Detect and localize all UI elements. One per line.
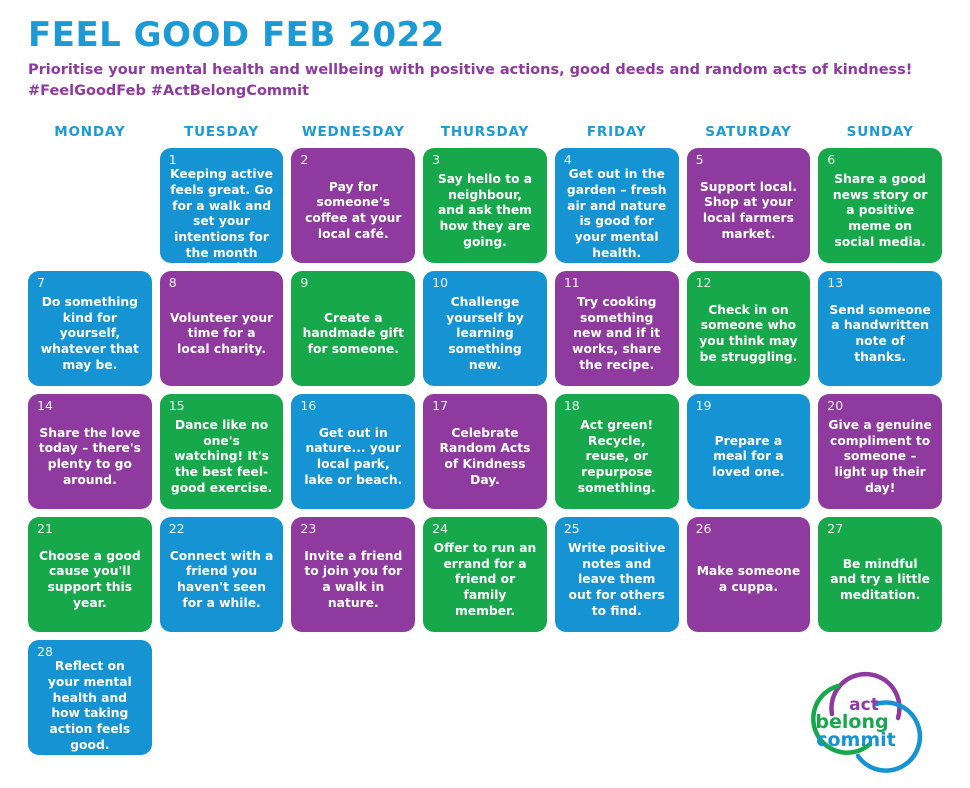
day-number: 17 — [432, 399, 538, 413]
calendar-day-cell-10[interactable]: 10Challenge yourself by learning somethi… — [423, 271, 547, 386]
day-number: 22 — [169, 522, 275, 536]
day-activity-text: Choose a good cause you'll support this … — [37, 536, 143, 623]
calendar-cell-empty — [160, 640, 284, 755]
day-number: 1 — [169, 153, 275, 167]
day-number: 8 — [169, 276, 275, 290]
day-number: 11 — [564, 276, 670, 290]
calendar-day-cell-9[interactable]: 9Create a handmade gift for someone. — [291, 271, 415, 386]
day-activity-text: Try cooking something new and if it work… — [564, 290, 670, 377]
day-number: 20 — [827, 399, 933, 413]
calendar-day-cell-3[interactable]: 3Say hello to a neighbour, and ask them … — [423, 148, 547, 263]
day-activity-text: Volunteer your time for a local charity. — [169, 290, 275, 377]
day-number: 12 — [696, 276, 802, 290]
day-activity-text: Support local. Shop at your local farmer… — [696, 167, 802, 254]
calendar-day-cell-1[interactable]: 1Keeping active feels great. Go for a wa… — [160, 148, 284, 263]
calendar-day-cell-6[interactable]: 6Share a good news story or a positive m… — [818, 148, 942, 263]
weekday-header-saturday: SATURDAY — [687, 124, 811, 140]
day-activity-text: Give a genuine compliment to someone – l… — [827, 413, 933, 500]
weekday-header-monday: MONDAY — [28, 124, 152, 140]
weekday-header-tuesday: TUESDAY — [160, 124, 284, 140]
calendar-day-cell-14[interactable]: 14Share the love today – there's plenty … — [28, 394, 152, 509]
calendar-day-cell-15[interactable]: 15Dance like no one's watching! It's the… — [160, 394, 284, 509]
day-activity-text: Create a handmade gift for someone. — [300, 290, 406, 377]
day-number: 24 — [432, 522, 538, 536]
calendar-day-cell-7[interactable]: 7Do something kind for yourself, whateve… — [28, 271, 152, 386]
calendar-cell-empty — [423, 640, 547, 755]
day-activity-text: Offer to run an errand for a friend or f… — [432, 536, 538, 623]
day-number: 16 — [300, 399, 406, 413]
calendar-day-cell-25[interactable]: 25Write positive notes and leave them ou… — [555, 517, 679, 632]
day-number: 6 — [827, 153, 933, 167]
day-activity-text: Share the love today – there's plenty to… — [37, 413, 143, 500]
act-belong-commit-logo: act belong commit — [794, 660, 934, 780]
day-activity-text: Challenge yourself by learning something… — [432, 290, 538, 377]
day-activity-text: Get out in nature... your local park, la… — [300, 413, 406, 500]
calendar-day-cell-13[interactable]: 13Send someone a handwritten note of tha… — [818, 271, 942, 386]
calendar-week-row: 1Keeping active feels great. Go for a wa… — [28, 148, 942, 263]
weekday-header-sunday: SUNDAY — [818, 124, 942, 140]
day-number: 10 — [432, 276, 538, 290]
day-activity-text: Connect with a friend you haven't seen f… — [169, 536, 275, 623]
calendar-day-cell-21[interactable]: 21Choose a good cause you'll support thi… — [28, 517, 152, 632]
calendar-day-cell-20[interactable]: 20Give a genuine compliment to someone –… — [818, 394, 942, 509]
day-number: 15 — [169, 399, 275, 413]
calendar-day-cell-18[interactable]: 18Act green! Recycle, reuse, or repurpos… — [555, 394, 679, 509]
day-number: 19 — [696, 399, 802, 413]
day-number: 18 — [564, 399, 670, 413]
day-number: 4 — [564, 153, 670, 167]
day-number: 14 — [37, 399, 143, 413]
day-number: 25 — [564, 522, 670, 536]
page-title: FEEL GOOD FEB 2022 — [28, 18, 970, 54]
calendar-day-cell-16[interactable]: 16Get out in nature... your local park, … — [291, 394, 415, 509]
day-activity-text: Celebrate Random Acts of Kindness Day. — [432, 413, 538, 500]
calendar-day-cell-19[interactable]: 19Prepare a meal for a loved one. — [687, 394, 811, 509]
calendar-day-cell-28[interactable]: 28Reflect on your mental health and how … — [28, 640, 152, 755]
day-number: 21 — [37, 522, 143, 536]
calendar-day-cell-8[interactable]: 8Volunteer your time for a local charity… — [160, 271, 284, 386]
day-activity-text: Invite a friend to join you for a walk i… — [300, 536, 406, 623]
day-number: 27 — [827, 522, 933, 536]
page-subtitle: Prioritise your mental health and wellbe… — [28, 60, 970, 102]
page-header: FEEL GOOD FEB 2022 Prioritise your menta… — [0, 0, 970, 102]
calendar-day-cell-4[interactable]: 4Get out in the garden – fresh air and n… — [555, 148, 679, 263]
weekday-header-thursday: THURSDAY — [423, 124, 547, 140]
day-number: 9 — [300, 276, 406, 290]
day-number: 28 — [37, 645, 143, 659]
calendar-day-cell-26[interactable]: 26Make someone a cuppa. — [687, 517, 811, 632]
day-number: 7 — [37, 276, 143, 290]
day-activity-text: Check in on someone who you think may be… — [696, 290, 802, 377]
weekday-header-wednesday: WEDNESDAY — [291, 124, 415, 140]
day-activity-text: Reflect on your mental health and how ta… — [37, 659, 143, 753]
calendar-day-cell-2[interactable]: 2Pay for someone's coffee at your local … — [291, 148, 415, 263]
calendar-day-cell-17[interactable]: 17Celebrate Random Acts of Kindness Day. — [423, 394, 547, 509]
subtitle-line-2: #FeelGoodFeb #ActBelongCommit — [28, 81, 970, 102]
calendar-cell-empty — [28, 148, 152, 263]
day-activity-text: Make someone a cuppa. — [696, 536, 802, 623]
day-number: 5 — [696, 153, 802, 167]
weekday-header-friday: FRIDAY — [555, 124, 679, 140]
day-activity-text: Prepare a meal for a loved one. — [696, 413, 802, 500]
day-activity-text: Send someone a handwritten note of thank… — [827, 290, 933, 377]
calendar-cell-empty — [555, 640, 679, 755]
calendar-day-cell-5[interactable]: 5Support local. Shop at your local farme… — [687, 148, 811, 263]
day-activity-text: Pay for someone's coffee at your local c… — [300, 167, 406, 254]
calendar-day-cell-22[interactable]: 22Connect with a friend you haven't seen… — [160, 517, 284, 632]
logo-arcs-icon — [794, 660, 934, 780]
subtitle-line-1: Prioritise your mental health and wellbe… — [28, 60, 970, 81]
day-activity-text: Dance like no one's watching! It's the b… — [169, 413, 275, 500]
day-activity-text: Say hello to a neighbour, and ask them h… — [432, 167, 538, 254]
calendar-day-cell-12[interactable]: 12Check in on someone who you think may … — [687, 271, 811, 386]
day-number: 2 — [300, 153, 406, 167]
calendar-week-row: 14Share the love today – there's plenty … — [28, 394, 942, 509]
calendar-cell-empty — [687, 640, 811, 755]
day-number: 26 — [696, 522, 802, 536]
day-activity-text: Act green! Recycle, reuse, or repurpose … — [564, 413, 670, 500]
calendar-week-row: 7Do something kind for yourself, whateve… — [28, 271, 942, 386]
calendar-day-cell-11[interactable]: 11Try cooking something new and if it wo… — [555, 271, 679, 386]
day-number: 3 — [432, 153, 538, 167]
calendar-day-cell-27[interactable]: 27Be mindful and try a little meditation… — [818, 517, 942, 632]
day-activity-text: Do something kind for yourself, whatever… — [37, 290, 143, 377]
day-activity-text: Write positive notes and leave them out … — [564, 536, 670, 623]
day-activity-text: Get out in the garden – fresh air and na… — [564, 167, 670, 261]
day-activity-text: Keeping active feels great. Go for a wal… — [169, 167, 275, 262]
day-activity-text: Be mindful and try a little meditation. — [827, 536, 933, 623]
day-number: 23 — [300, 522, 406, 536]
calendar-week-row: 21Choose a good cause you'll support thi… — [28, 517, 942, 632]
calendar-day-cell-24[interactable]: 24Offer to run an errand for a friend or… — [423, 517, 547, 632]
calendar-cell-empty — [291, 640, 415, 755]
day-activity-text: Share a good news story or a positive me… — [827, 167, 933, 254]
calendar-day-cell-23[interactable]: 23Invite a friend to join you for a walk… — [291, 517, 415, 632]
day-number: 13 — [827, 276, 933, 290]
weekday-header-row: MONDAYTUESDAYWEDNESDAYTHURSDAYFRIDAYSATU… — [28, 124, 942, 140]
